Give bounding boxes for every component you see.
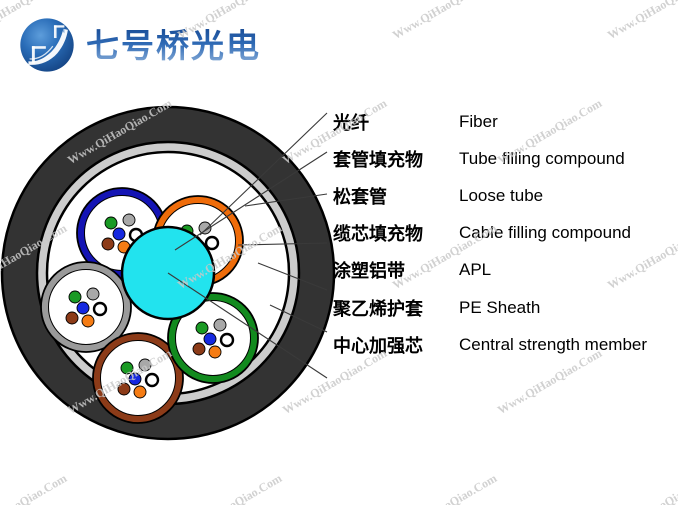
- label-row-central-strength-member: 中心加强芯Central strength member: [333, 326, 678, 363]
- loose-tube-green-fiber-green: [196, 322, 208, 334]
- loose-tube-gray-fiber-brown: [66, 312, 78, 324]
- loose-tube-brown-fiber-orange: [134, 386, 146, 398]
- label-row-cable-filling-compound: 缆芯填充物Cable filling compound: [333, 215, 678, 252]
- label-en-tube-filling-compound: Tube filling compound: [459, 149, 678, 169]
- watermark-text: Www.QiHaoQiao.Com: [605, 471, 678, 505]
- watermark-text: Www.QiHaoQiao.Com: [0, 471, 70, 505]
- loose-tube-brown-fiber-white: [146, 374, 158, 386]
- label-en-fiber: Fiber: [459, 112, 678, 132]
- loose-tube-brown-fiber-blue: [129, 373, 141, 385]
- label-en-loose-tube: Loose tube: [459, 186, 678, 206]
- watermark-text: Www.QiHaoQiao.Com: [605, 0, 678, 43]
- label-row-fiber: 光纤Fiber: [333, 103, 678, 140]
- bridge-circle-logo-icon: [18, 16, 76, 74]
- loose-tube-green-fiber-white: [221, 334, 233, 346]
- loose-tube-brown-fiber-brown: [118, 383, 130, 395]
- label-cn-apl: 涂塑铝带: [333, 257, 459, 283]
- loose-tube-blue-fiber-brown: [102, 238, 114, 250]
- loose-tube-green-fiber-gray: [214, 319, 226, 331]
- loose-tube-brown-fiber-gray: [139, 359, 151, 371]
- label-cn-cable-filling-compound: 缆芯填充物: [333, 220, 459, 246]
- loose-tube-blue-fiber-blue: [113, 228, 125, 240]
- label-row-loose-tube: 松套管Loose tube: [333, 177, 678, 214]
- loose-tube-green-fiber-orange: [209, 346, 221, 358]
- label-cn-fiber: 光纤: [333, 109, 459, 135]
- watermark-text: Www.QiHaoQiao.Com: [390, 0, 500, 43]
- loose-tube-blue-fiber-gray: [123, 214, 135, 226]
- label-row-apl: 涂塑铝带APL: [333, 252, 678, 289]
- loose-tube-green-fiber-brown: [193, 343, 205, 355]
- label-en-central-strength-member: Central strength member: [459, 335, 678, 355]
- brand-header: 七号桥光电: [18, 14, 261, 76]
- label-row-tube-filling-compound: 套管填充物Tube filling compound: [333, 140, 678, 177]
- loose-tube-gray-fiber-orange: [82, 315, 94, 327]
- loose-tube-gray-fiber-gray: [87, 288, 99, 300]
- label-cn-pe-sheath: 聚乙烯护套: [333, 295, 459, 321]
- label-cn-central-strength-member: 中心加强芯: [333, 332, 459, 358]
- loose-tube-gray-fiber-blue: [77, 302, 89, 314]
- label-en-cable-filling-compound: Cable filling compound: [459, 223, 678, 243]
- loose-tube-brown-fiber-green: [121, 362, 133, 374]
- loose-tube-orange-fiber-gray: [199, 222, 211, 234]
- label-cn-tube-filling-compound: 套管填充物: [333, 146, 459, 172]
- brand-name: 七号桥光电: [86, 29, 261, 62]
- loose-tube-orange-fiber-white: [206, 237, 218, 249]
- diagram-page: 七号桥光电 光纤Fiber套管填充物Tube filling compound松…: [0, 0, 678, 505]
- watermark-text: Www.QiHaoQiao.Com: [390, 471, 500, 505]
- label-list: 光纤Fiber套管填充物Tube filling compound松套管Loos…: [333, 103, 678, 363]
- watermark-text: Www.QiHaoQiao.Com: [175, 471, 285, 505]
- label-row-pe-sheath: 聚乙烯护套PE Sheath: [333, 289, 678, 326]
- label-en-apl: APL: [459, 260, 678, 280]
- label-en-pe-sheath: PE Sheath: [459, 298, 678, 318]
- central-strength-member: [122, 227, 214, 319]
- loose-tube-green-fiber-blue: [204, 333, 216, 345]
- loose-tube-blue-fiber-green: [105, 217, 117, 229]
- loose-tube-gray-fiber-green: [69, 291, 81, 303]
- loose-tube-gray-fiber-white: [94, 303, 106, 315]
- cable-cross-section-diagram: [0, 95, 350, 450]
- label-cn-loose-tube: 松套管: [333, 183, 459, 209]
